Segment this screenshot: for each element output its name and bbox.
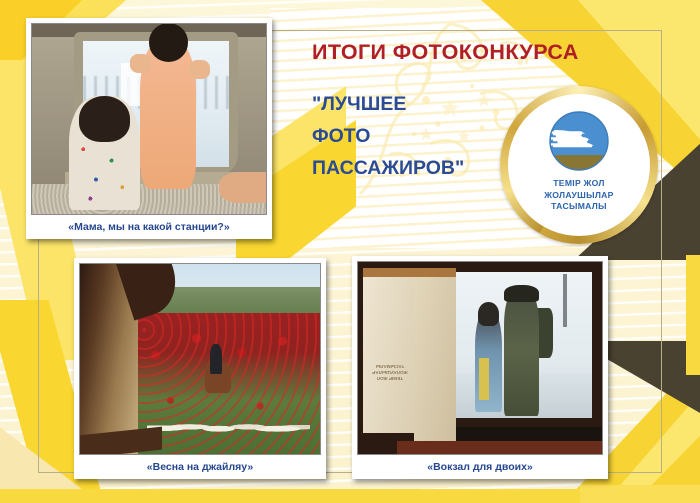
logo-inner-disc: ТЕМІР ЖОЛ ЖОЛАУШЫЛАР ТАСЫМАЛЫ — [508, 94, 650, 236]
page-subtitle: "ЛУЧШЕЕ ФОТО ПАССАЖИРОВ" — [312, 88, 464, 184]
photo-card-3[interactable]: ТЕМІР ЖОЛ ЖОЛАУШЫЛАР ТАСЫМАЛЫ «Вокзал дл… — [352, 256, 608, 479]
photo-1-image — [31, 23, 267, 215]
photo-3-image: ТЕМІР ЖОЛ ЖОЛАУШЫЛАР ТАСЫМАЛЫ — [357, 261, 603, 455]
curtain-print-text: ТЕМІР ЖОЛ ЖОЛАУШЫЛАР ТАСЫМАЛЫ — [368, 331, 412, 381]
photo-3-caption: «Вокзал для двоих» — [357, 455, 603, 479]
decor-strip-right — [686, 255, 700, 375]
photo-card-2[interactable]: «Весна на джайляу» — [74, 258, 326, 479]
temir-zhol-emblem-icon — [548, 110, 610, 172]
photo-2-caption: «Весна на джайляу» — [79, 455, 321, 479]
decor-bar-bottom-right — [580, 485, 700, 503]
photo-contest-poster: ИТОГИ ФОТОКОНКУРСА "ЛУЧШЕЕ ФОТО ПАССАЖИР… — [0, 0, 700, 503]
photo-1-caption: «Мама, мы на какой станции?» — [31, 215, 267, 239]
page-title: ИТОГИ ФОТОКОНКУРСА — [312, 40, 579, 65]
company-logo-badge: ТЕМІР ЖОЛ ЖОЛАУШЫЛАР ТАСЫМАЛЫ — [500, 86, 658, 244]
logo-text: ТЕМІР ЖОЛ ЖОЛАУШЫЛАР ТАСЫМАЛЫ — [544, 178, 613, 213]
photo-2-image — [79, 263, 321, 455]
photo-card-1[interactable]: «Мама, мы на какой станции?» — [26, 18, 272, 239]
